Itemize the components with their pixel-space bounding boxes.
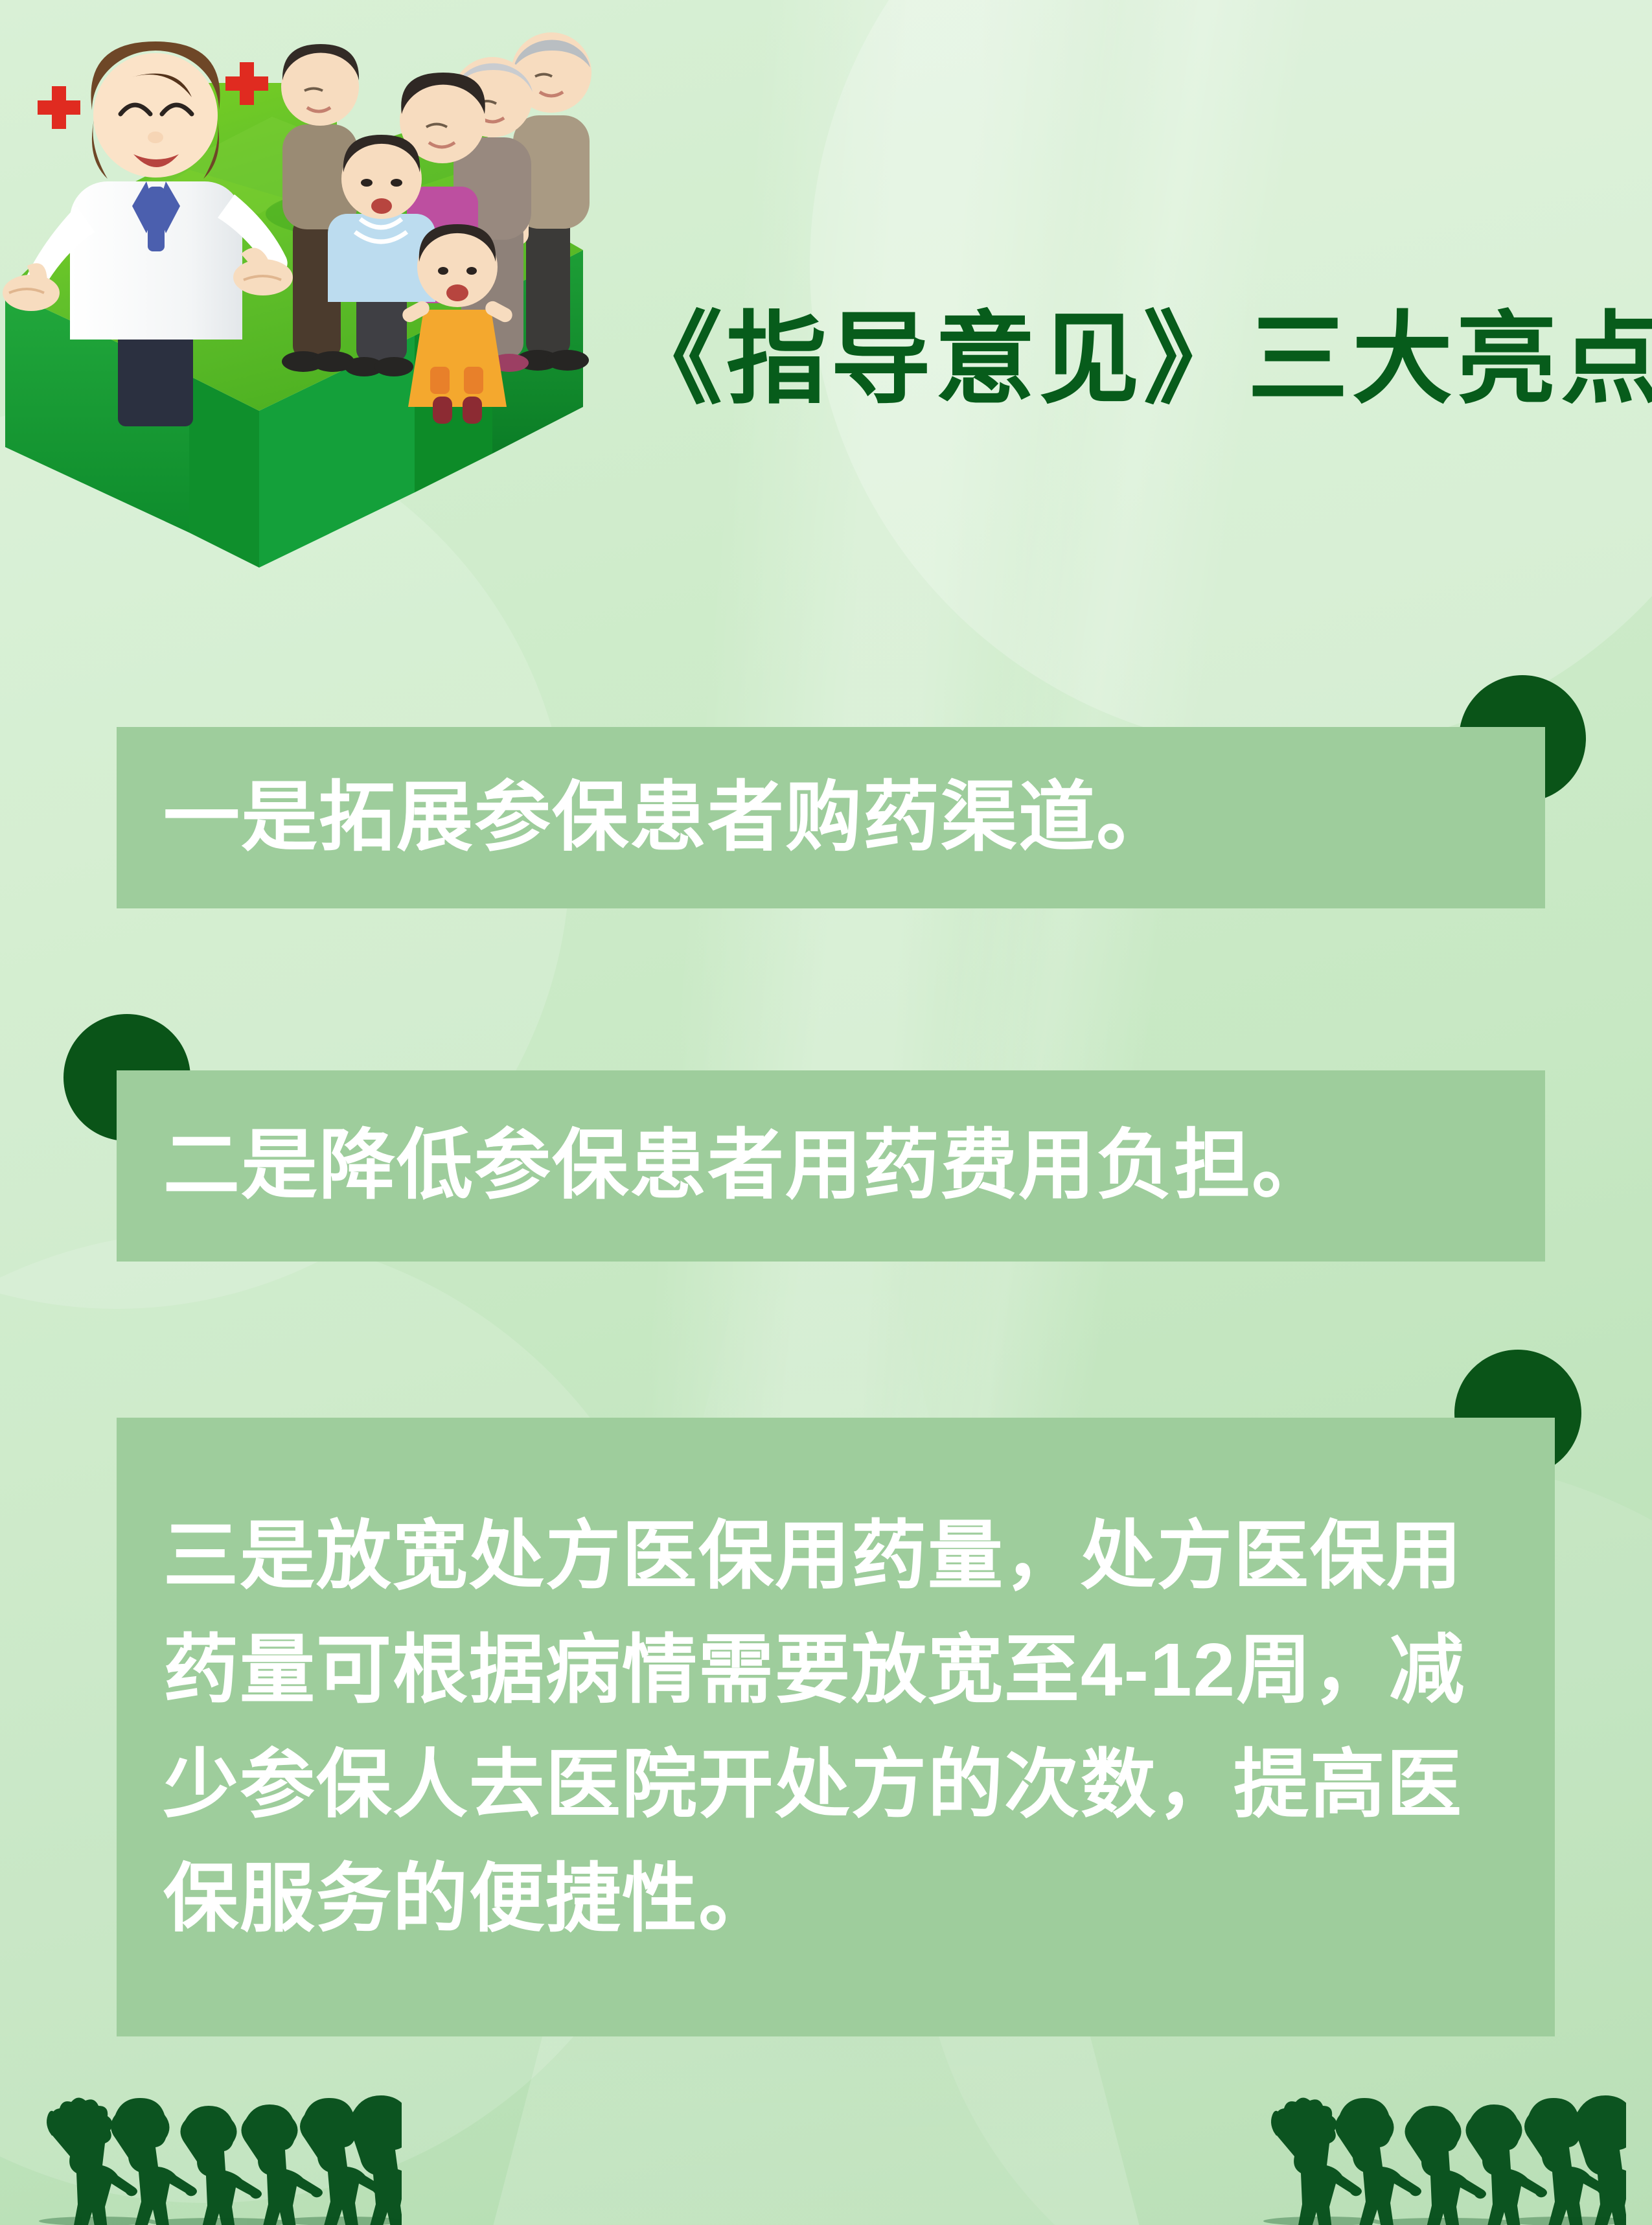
highlight-panel-two: 二是降低参保患者用药费用负担。: [117, 1070, 1545, 1262]
page-title: 《指导意见》三大亮点: [622, 307, 1633, 413]
highlight-panel-three: 三是放宽处方医保用药量，处方医保用药量可根据病情需要放宽至4-12周，减少参保人…: [117, 1418, 1555, 2036]
highlight-text-two: 二是降低参保患者用药费用负担。: [117, 1113, 1376, 1219]
highlight-text-one: 一是拓展参保患者购药渠道。: [117, 765, 1221, 871]
header-illustration: [0, 0, 654, 654]
highlight-panel-one: 一是拓展参保患者购药渠道。: [117, 727, 1545, 908]
children-silhouette-left: [26, 2076, 402, 2225]
red-cross-icon: [38, 86, 80, 129]
poster-canvas: 《指导意见》三大亮点 一是拓展参保患者购药渠道。 二是降低参保患者用药费用负担。…: [0, 0, 1652, 2225]
children-silhouette-right: [1250, 2076, 1626, 2225]
highlight-text-three: 三是放宽处方医保用药量，处方医保用药量可根据病情需要放宽至4-12周，减少参保人…: [117, 1499, 1555, 1955]
family-group: [281, 32, 591, 424]
